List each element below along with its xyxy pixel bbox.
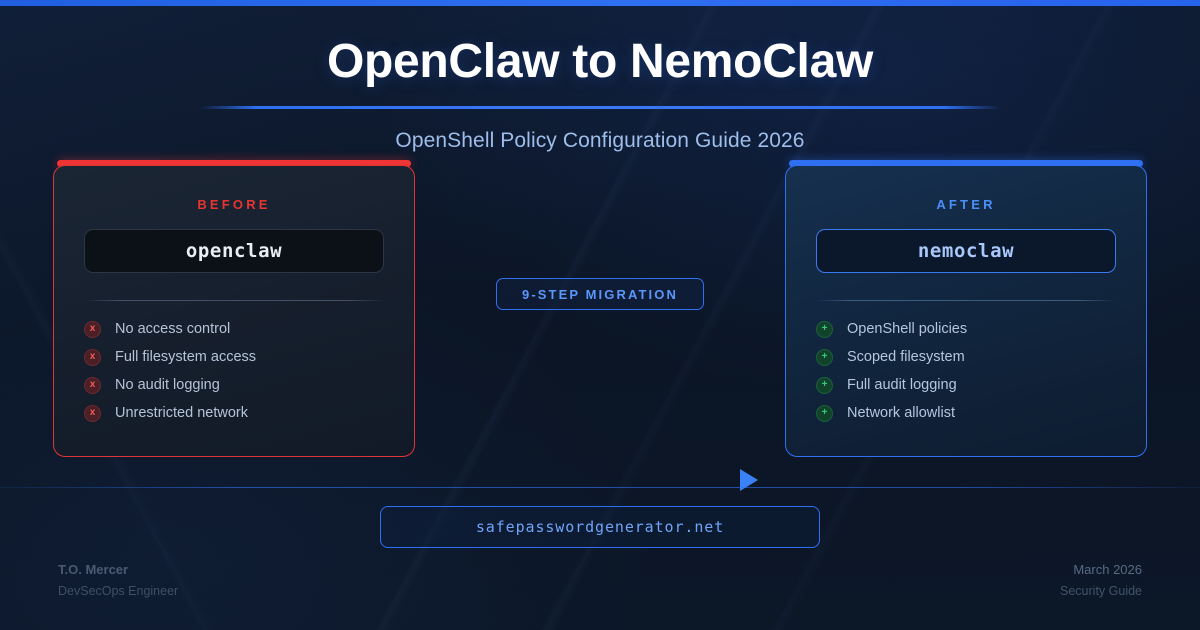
title-divider [200,106,1000,109]
author-role: DevSecOps Engineer [58,584,178,598]
migration-badge: 9-STEP MIGRATION [496,278,704,310]
page-subtitle: OpenShell Policy Configuration Guide 202… [0,129,1200,153]
page-title: OpenClaw to NemoClaw [0,36,1200,88]
list-item-label: Network allowlist [847,405,955,421]
top-accent-bar [0,0,1200,6]
list-item: + Full audit logging [816,371,1116,399]
list-item: + OpenShell policies [816,315,1116,343]
plus-icon: + [816,321,833,338]
before-divider [84,300,384,301]
list-item: + Network allowlist [816,399,1116,427]
after-card: AFTER nemoclaw + OpenShell policies + Sc… [785,165,1147,457]
document-meta: March 2026 Security Guide [1060,562,1142,598]
author-byline: T.O. Mercer DevSecOps Engineer [58,562,178,598]
cross-icon: x [84,349,101,366]
before-command-pill: openclaw [84,229,384,273]
list-item: + Scoped filesystem [816,343,1116,371]
document-type: Security Guide [1060,584,1142,598]
play-triangle-right-icon [738,468,760,497]
list-item-label: No access control [115,321,230,337]
before-card: BEFORE openclaw x No access control x Fu… [53,165,415,457]
plus-icon: + [816,377,833,394]
footer-divider [0,487,1200,488]
cross-icon: x [84,405,101,422]
before-card-body: BEFORE openclaw x No access control x Fu… [53,165,415,457]
after-command-pill: nemoclaw [816,229,1116,273]
list-item: x Unrestricted network [84,399,384,427]
before-label: BEFORE [84,197,384,212]
cross-icon: x [84,377,101,394]
list-item-label: Scoped filesystem [847,349,965,365]
cross-icon: x [84,321,101,338]
website-url-pill[interactable]: safepasswordgenerator.net [380,506,820,548]
author-name: T.O. Mercer [58,562,178,577]
list-item-label: Full audit logging [847,377,957,393]
after-divider [816,300,1116,301]
comparison-section: BEFORE openclaw x No access control x Fu… [0,165,1200,460]
list-item-label: No audit logging [115,377,220,393]
plus-icon: + [816,405,833,422]
list-item-label: Unrestricted network [115,405,248,421]
list-item: x No access control [84,315,384,343]
list-item-label: OpenShell policies [847,321,967,337]
list-item: x Full filesystem access [84,343,384,371]
list-item: x No audit logging [84,371,384,399]
publication-date: March 2026 [1060,562,1142,577]
list-item-label: Full filesystem access [115,349,256,365]
page-header: OpenClaw to NemoClaw OpenShell Policy Co… [0,36,1200,153]
after-card-body: AFTER nemoclaw + OpenShell policies + Sc… [785,165,1147,457]
before-feature-list: x No access control x Full filesystem ac… [84,315,384,427]
after-feature-list: + OpenShell policies + Scoped filesystem… [816,315,1116,427]
plus-icon: + [816,349,833,366]
after-label: AFTER [816,197,1116,212]
